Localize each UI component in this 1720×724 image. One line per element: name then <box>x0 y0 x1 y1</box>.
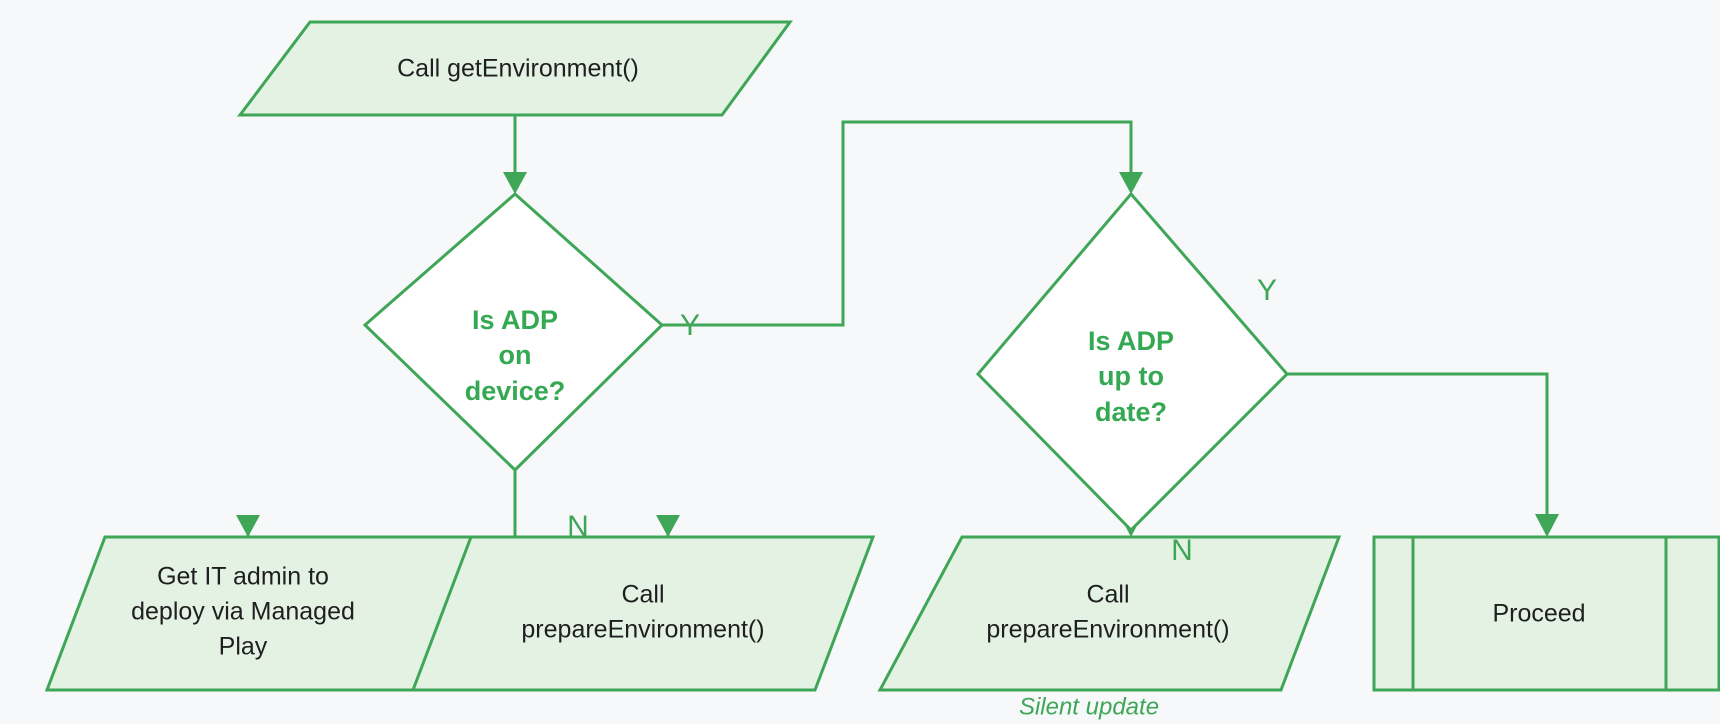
edge-start-to-device-decision <box>503 115 527 194</box>
decision-label-line2: up to <box>1098 361 1164 391</box>
decision-label-line3: device? <box>465 376 566 406</box>
arrow-head-icon <box>1119 172 1143 194</box>
decision-label-line1: Is ADP <box>1088 326 1174 356</box>
parallelogram-shape <box>880 537 1339 690</box>
node-label-line1: Get IT admin to <box>157 563 329 591</box>
node-label-call-get-environment: Call getEnvironment() <box>397 55 639 83</box>
branch-label-device-no: N <box>567 510 589 543</box>
node-label-line2: prepareEnvironment() <box>521 616 764 644</box>
arrow-head-icon <box>503 172 527 194</box>
flowchart-canvas: Call getEnvironment() Is ADP on device? … <box>0 0 1720 724</box>
decision-label-line2: on <box>499 340 532 370</box>
arrow-head-icon <box>1535 514 1559 537</box>
node-label-line3: Play <box>219 633 268 661</box>
node-label-proceed: Proceed <box>1492 600 1585 628</box>
arrow-head-icon <box>656 515 680 537</box>
node-call-get-environment[interactable]: Call getEnvironment() <box>240 22 790 115</box>
node-is-adp-on-device[interactable]: Is ADP on device? <box>365 194 662 470</box>
flowchart-svg: Call getEnvironment() Is ADP on device? … <box>0 0 1720 724</box>
decision-label-line3: date? <box>1095 397 1167 427</box>
caption-silent-update: Silent update <box>1019 693 1159 720</box>
branch-label-uptodate-no: N <box>1171 534 1193 567</box>
node-label-line2: prepareEnvironment() <box>986 616 1229 644</box>
parallelogram-shape <box>413 537 873 690</box>
node-label-line1: Call <box>1086 581 1129 609</box>
node-proceed[interactable]: Proceed <box>1374 537 1719 690</box>
node-label-line2: deploy via Managed <box>131 598 355 626</box>
node-call-prepare-environment-left[interactable]: Call prepareEnvironment() <box>413 537 873 690</box>
branch-label-device-yes: Y <box>680 309 700 342</box>
edge-line <box>1287 374 1547 518</box>
node-call-prepare-environment-right[interactable]: Call prepareEnvironment() <box>880 537 1339 690</box>
branch-label-uptodate-yes: Y <box>1257 274 1277 307</box>
decision-label-line1: Is ADP <box>472 305 558 335</box>
node-get-it-admin-deploy[interactable]: Get IT admin to deploy via Managed Play <box>47 537 472 690</box>
edge-uptodate-yes-to-proceed <box>1287 374 1559 537</box>
arrow-head-icon <box>236 515 260 537</box>
node-is-adp-up-to-date[interactable]: Is ADP up to date? <box>978 194 1287 530</box>
node-label-line1: Call <box>621 581 664 609</box>
